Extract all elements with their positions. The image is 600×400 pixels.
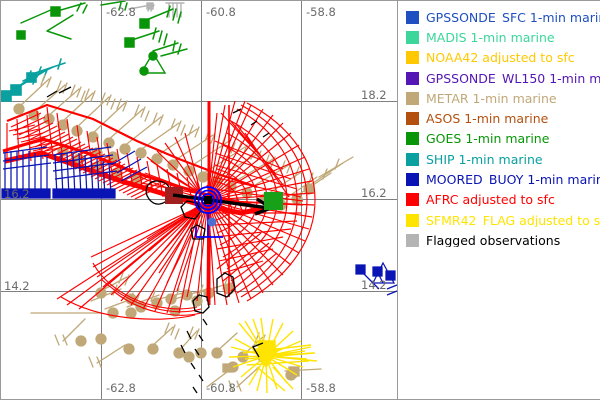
legend-item-asos[interactable]: ASOS 1-min marine <box>406 108 600 128</box>
legend-swatch-madis <box>406 31 419 44</box>
legend-swatch-noaa42 <box>406 51 419 64</box>
legend-label-gpssonde-sfc: GPSSONDE_SFC 1-min marine <box>426 11 600 24</box>
legend-item-madis[interactable]: MADIS 1-min marine <box>406 27 600 47</box>
legend-swatch-metar <box>406 92 419 105</box>
legend-swatch-gpssonde-sfc <box>406 11 419 24</box>
legend-label-asos: ASOS 1-min marine <box>426 112 548 125</box>
x-tick-bottom-3: -58.8 <box>306 381 336 395</box>
legend-item-sfmr42-flag[interactable]: SFMR42_FLAG adjusted to sfc <box>406 210 600 230</box>
x-tick-top-3: -58.8 <box>306 5 336 19</box>
legend-label-sfmr42-flag: SFMR42_FLAG adjusted to sfc <box>426 214 600 227</box>
x-tick-bottom-2: -60.8 <box>206 381 236 395</box>
legend-swatch-moored-buoy <box>406 173 419 186</box>
legend-label-metar: METAR 1-min marine <box>426 92 557 105</box>
legend-swatch-sfmr42-flag <box>406 214 419 227</box>
legend-swatch-afrc <box>406 193 419 206</box>
legend-swatch-gpssonde-wl150 <box>406 72 419 85</box>
legend-label-goes: GOES 1-min marine <box>426 132 549 145</box>
legend-label-noaa42: NOAA42 adjusted to sfc <box>426 51 575 64</box>
legend-label-ship: SHIP 1-min marine <box>426 153 543 166</box>
legend-label-gpssonde-wl150: GPSSONDE_WL150 1-min mar <box>426 72 600 85</box>
figure-window: -62.8 -60.8 -58.8 -62.8 -60.8 -58.8 16.2… <box>0 0 600 400</box>
legend-label-afrc: AFRC adjusted to sfc <box>426 193 555 206</box>
series-metar <box>14 75 353 391</box>
legend-item-moored-buoy[interactable]: MOORED_BUOY 1-min marine <box>406 169 600 189</box>
legend-swatch-flagged-observations <box>406 234 419 247</box>
x-tick-top-1: -62.8 <box>106 5 136 19</box>
legend-label-flagged-observations: Flagged observations <box>426 234 560 247</box>
legend-swatch-asos <box>406 112 419 125</box>
y-tick-left-162: 16.2 <box>4 187 30 201</box>
y-tick-right-162: 16.2 <box>361 186 387 200</box>
center-dot <box>204 196 212 204</box>
legend-item-gpssonde-sfc[interactable]: GPSSONDE_SFC 1-min marine <box>406 7 600 27</box>
legend-item-flagged-observations[interactable]: Flagged observations <box>406 230 600 250</box>
legend-swatch-ship <box>406 153 419 166</box>
green-square-marker <box>264 192 283 210</box>
legend-item-metar[interactable]: METAR 1-min marine <box>406 88 600 108</box>
legend-swatch-goes <box>406 132 419 145</box>
legend-item-noaa42[interactable]: NOAA42 adjusted to sfc <box>406 48 600 68</box>
map-plot-panel[interactable]: -62.8 -60.8 -58.8 -62.8 -60.8 -58.8 16.2… <box>1 1 398 399</box>
map-canvas <box>1 1 398 399</box>
legend-panel: GPSSONDE_SFC 1-min marine MADIS 1-min ma… <box>399 1 600 399</box>
legend-item-goes[interactable]: GOES 1-min marine <box>406 129 600 149</box>
y-tick-right-142: 14.2 <box>361 278 387 292</box>
legend-label-moored-buoy: MOORED_BUOY 1-min marine <box>426 173 600 186</box>
legend-label-madis: MADIS 1-min marine <box>426 31 555 44</box>
legend-item-afrc[interactable]: AFRC adjusted to sfc <box>406 190 600 210</box>
y-tick-left-142: 14.2 <box>4 279 30 293</box>
x-tick-top-2: -60.8 <box>206 5 236 19</box>
x-tick-bottom-1: -62.8 <box>106 381 136 395</box>
legend-item-gpssonde-wl150[interactable]: GPSSONDE_WL150 1-min mar <box>406 68 600 88</box>
y-tick-right-182: 18.2 <box>361 88 387 102</box>
legend-item-ship[interactable]: SHIP 1-min marine <box>406 149 600 169</box>
